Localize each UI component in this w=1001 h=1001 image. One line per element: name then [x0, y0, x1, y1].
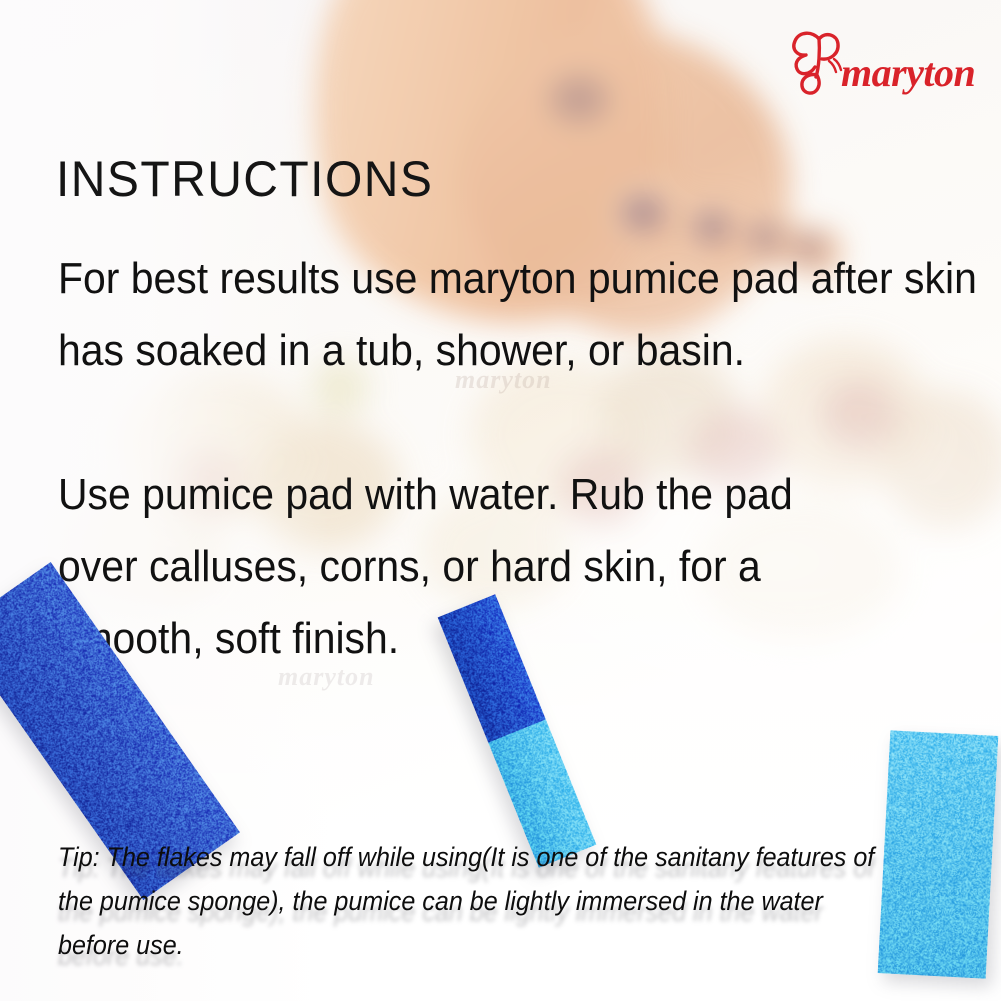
tip-text: Tip: The flakes may fall off while using…: [58, 835, 932, 967]
paragraph-line: over calluses, corns, or hard skin, for …: [58, 531, 793, 603]
paragraph-line: For best results use maryton pumice pad …: [58, 243, 977, 315]
brand-name: maryton: [841, 49, 975, 96]
paragraph-line: Use pumice pad with water. Rub the pad: [58, 459, 793, 531]
paragraph-usage-rub: Use pumice pad with water. Rub the pad o…: [58, 459, 793, 675]
page-title: INSTRUCTIONS: [56, 150, 433, 208]
tip-line: the pumice sponge), the pumice can be li…: [58, 879, 932, 923]
brand-logo: maryton: [789, 24, 979, 106]
paragraph-line: has soaked in a tub, shower, or basin.: [58, 315, 977, 387]
tip-line: before use.: [58, 923, 932, 967]
tip-line: Tip: The flakes may fall off while using…: [58, 835, 932, 879]
instructions-page: maryton maryton maryton INSTRUCTIONS For…: [0, 0, 1001, 1001]
butterfly-icon: [789, 29, 847, 101]
paragraph-line: smooth, soft finish.: [58, 603, 793, 675]
paragraph-usage-soak: For best results use maryton pumice pad …: [58, 243, 977, 387]
